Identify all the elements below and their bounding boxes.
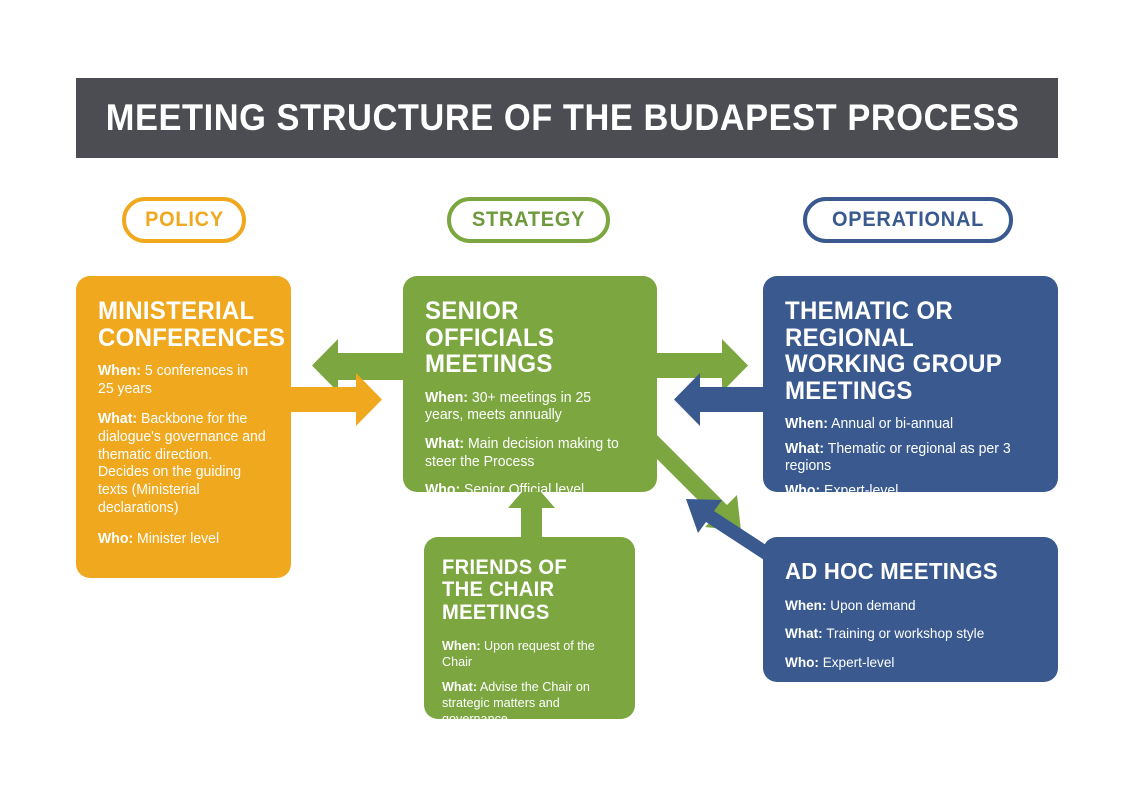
card-friends-when: When: Upon request of the Chair xyxy=(442,638,616,670)
card-adhoc-when: When: Upon demand xyxy=(785,597,1030,614)
what-label: What: xyxy=(442,679,477,694)
card-thematic-regional-working-group[interactable]: THEMATIC OR REGIONAL WORKING GROUP MEETI… xyxy=(763,276,1058,492)
card-ministerial-who: Who: Minister level xyxy=(98,531,266,549)
title-banner: MEETING STRUCTURE OF THE BUDAPEST PROCES… xyxy=(76,78,1058,158)
when-label: When: xyxy=(425,390,468,406)
card-adhoc-what: What: Training or workshop style xyxy=(785,625,1030,642)
arrow-senior-to-thematic xyxy=(657,339,748,392)
when-label: When: xyxy=(785,597,826,613)
when-label: When: xyxy=(442,638,481,653)
arrow-senior-to-ministerial xyxy=(312,339,403,392)
card-thematic-who: Who: Expert-level xyxy=(785,483,1030,492)
card-senior-who: Who: Senior Official level xyxy=(425,482,631,492)
card-ministerial-conferences[interactable]: MINISTERIAL CONFERENCES When: 5 conferen… xyxy=(76,276,291,578)
card-adhoc-who: Who: Expert-level xyxy=(785,654,1030,671)
card-senior-what: What: Main decision making to steer the … xyxy=(425,436,631,471)
when-label: When: xyxy=(785,416,828,432)
what-value: Training or workshop style xyxy=(826,625,984,641)
card-friends-of-the-chair-meetings[interactable]: FRIENDS OF THE CHAIR MEETINGS When: Upon… xyxy=(424,537,635,719)
card-ministerial-title: MINISTERIAL CONFERENCES xyxy=(98,298,264,351)
arrow-thematic-to-senior xyxy=(674,373,763,426)
category-pill-policy[interactable]: POLICY xyxy=(122,197,246,243)
category-pill-operational-label: OPERATIONAL xyxy=(832,208,984,232)
card-thematic-when: When: Annual or bi-annual xyxy=(785,416,1030,434)
who-value: Expert-level xyxy=(823,654,895,670)
who-label: Who: xyxy=(98,531,133,547)
what-label: What: xyxy=(785,625,823,641)
category-pill-strategy[interactable]: STRATEGY xyxy=(447,197,610,243)
when-value: Annual or bi-annual xyxy=(831,416,953,432)
what-label: What: xyxy=(425,436,464,452)
who-value: Expert-level xyxy=(824,483,898,492)
card-thematic-what: What: Thematic or regional as per 3 regi… xyxy=(785,441,1030,476)
card-ministerial-content: MINISTERIAL CONFERENCES When: 5 conferen… xyxy=(76,276,291,578)
card-senior-officials-meetings[interactable]: SENIOR OFFICIALS MEETINGS When: 30+ meet… xyxy=(403,276,657,492)
card-friends-title: FRIENDS OF THE CHAIR MEETINGS xyxy=(442,557,614,624)
card-ministerial-what: What: Backbone for the dialogue's govern… xyxy=(98,411,266,517)
what-label: What: xyxy=(785,441,824,457)
card-senior-title: SENIOR OFFICIALS MEETINGS xyxy=(425,298,629,378)
who-label: Who: xyxy=(425,482,460,492)
category-pill-strategy-label: STRATEGY xyxy=(472,208,585,232)
card-friends-content: FRIENDS OF THE CHAIR MEETINGS When: Upon… xyxy=(424,537,635,719)
category-pill-policy-label: POLICY xyxy=(145,208,224,232)
card-senior-content: SENIOR OFFICIALS MEETINGS When: 30+ meet… xyxy=(403,276,657,492)
who-label: Who: xyxy=(785,654,819,670)
card-ministerial-when: When: 5 conferences in 25 years xyxy=(98,363,266,398)
card-adhoc-content: AD HOC MEETINGS When: Upon demand What: … xyxy=(763,537,1058,682)
arrow-ministerial-to-senior xyxy=(291,373,382,426)
card-thematic-content: THEMATIC OR REGIONAL WORKING GROUP MEETI… xyxy=(763,276,1058,492)
card-senior-when: When: 30+ meetings in 25 years, meets an… xyxy=(425,390,631,425)
page-title: MEETING STRUCTURE OF THE BUDAPEST PROCES… xyxy=(76,97,1020,139)
who-label: Who: xyxy=(785,483,820,492)
category-pill-operational[interactable]: OPERATIONAL xyxy=(803,197,1013,243)
what-label: What: xyxy=(98,411,137,427)
diagram-canvas: MEETING STRUCTURE OF THE BUDAPEST PROCES… xyxy=(0,0,1132,800)
when-value: Upon demand xyxy=(830,597,915,613)
card-thematic-title: THEMATIC OR REGIONAL WORKING GROUP MEETI… xyxy=(785,298,1028,404)
card-friends-what: What: Advise the Chair on strategic matt… xyxy=(442,679,616,719)
who-value: Senior Official level xyxy=(464,482,584,492)
card-ad-hoc-meetings[interactable]: AD HOC MEETINGS When: Upon demand What: … xyxy=(763,537,1058,682)
card-adhoc-title: AD HOC MEETINGS xyxy=(785,559,1028,583)
when-label: When: xyxy=(98,363,141,379)
who-value: Minister level xyxy=(137,531,219,547)
